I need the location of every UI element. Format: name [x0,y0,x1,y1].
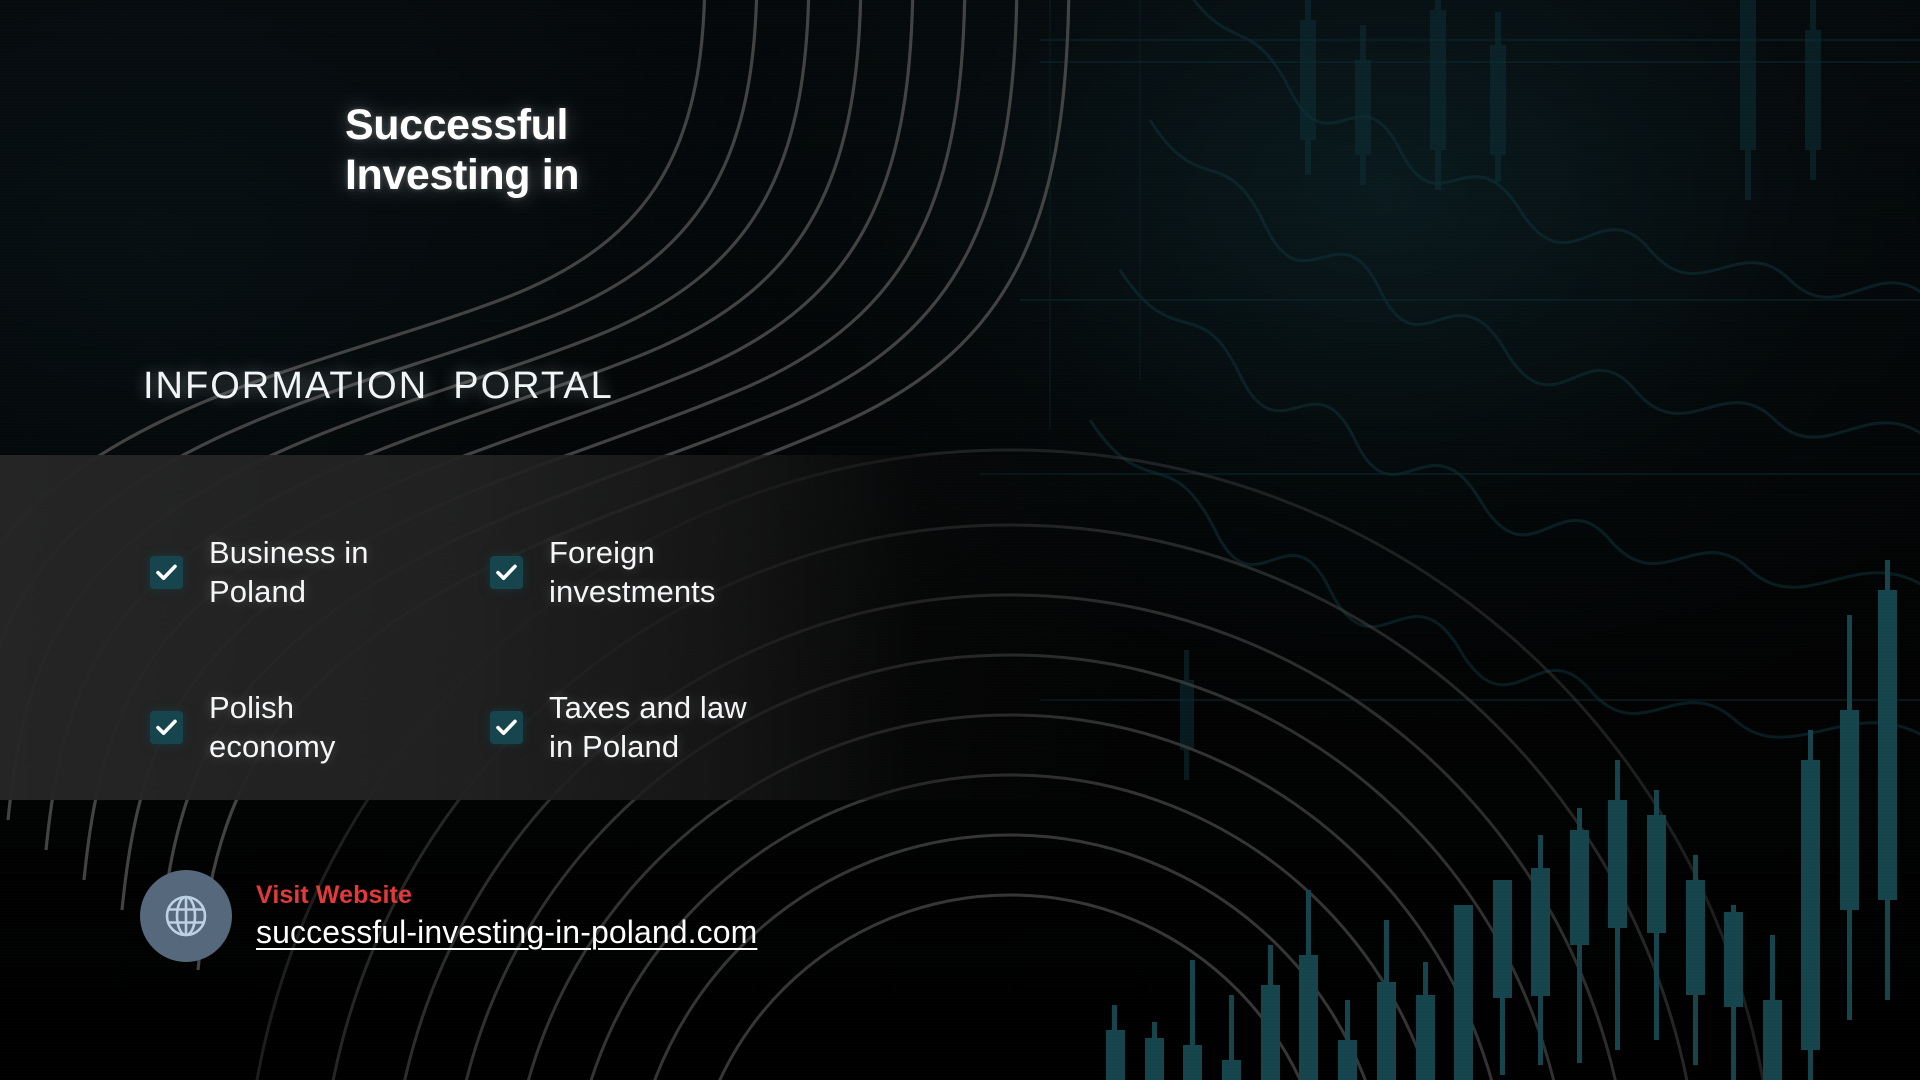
globe-icon [140,870,232,962]
website-cta[interactable]: Visit Website successful-investing-in-po… [140,870,757,962]
page-title: Successful Investing in [345,100,579,201]
promo-banner: Successful Investing in INFORMATION PORT… [0,0,1920,1080]
list-item[interactable]: Business in Poland [150,495,490,650]
check-icon [150,556,183,589]
list-item-label: Polish economy [209,689,336,765]
list-item-label: Foreign investments [549,534,716,610]
check-icon [490,711,523,744]
list-item-label: Business in Poland [209,534,369,610]
visit-website-label: Visit Website [256,881,757,910]
subtitle: INFORMATION PORTAL [143,365,614,408]
list-item[interactable]: Taxes and law in Poland [490,650,830,805]
check-icon [490,556,523,589]
check-icon [150,711,183,744]
list-item[interactable]: Foreign investments [490,495,830,650]
list-item-label: Taxes and law in Poland [549,689,747,765]
list-item[interactable]: Polish economy [150,650,490,805]
feature-checklist: Business in Poland Foreign investments P… [150,495,910,805]
website-url-link[interactable]: successful-investing-in-poland.com [256,914,757,951]
